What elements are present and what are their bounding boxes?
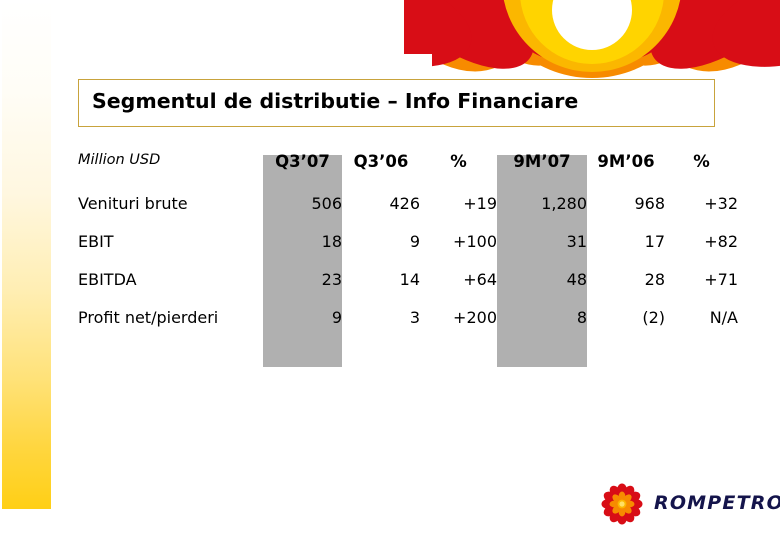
row-label: Venituri brute: [78, 194, 263, 232]
column-header-pct-ninemonth: %: [665, 152, 738, 194]
cell-pct-quarter: +100: [420, 232, 497, 270]
cell-pct-quarter: +64: [420, 270, 497, 308]
rompetrol-flower-mark-icon: [601, 483, 643, 525]
cell-9m-2007: 8: [497, 308, 587, 346]
cell-q3-2007: 23: [263, 270, 342, 308]
cell-q3-2006: 3: [342, 308, 420, 346]
rompetrol-wordmark: ROMPETROL: [654, 492, 780, 514]
page-title: Segmentul de distributie – Info Financia…: [92, 89, 578, 113]
rompetrol-sun-graphic: [404, 0, 780, 78]
table-row: EBITDA 23 14 +64 48 28 +71: [78, 270, 738, 308]
cell-q3-2007: 18: [263, 232, 342, 270]
cell-9m-2006: 17: [587, 232, 665, 270]
cell-pct-ninemonth: +82: [665, 232, 738, 270]
cell-9m-2007: 31: [497, 232, 587, 270]
table-row: Profit net/pierderi 9 3 +200 8 (2) N/A: [78, 308, 738, 346]
cell-9m-2006: (2): [587, 308, 665, 346]
cell-q3-2006: 426: [342, 194, 420, 232]
unit-label: Million USD: [78, 152, 263, 194]
column-header-q3-2006: Q3’06: [342, 152, 420, 194]
column-header-q3-2007: Q3’07: [263, 152, 342, 194]
title-box: Segmentul de distributie – Info Financia…: [78, 79, 715, 127]
cell-q3-2007: 9: [263, 308, 342, 346]
cell-pct-ninemonth: +32: [665, 194, 738, 232]
rompetrol-logo: ROMPETROL: [601, 481, 771, 527]
cell-q3-2006: 14: [342, 270, 420, 308]
column-header-9m-2007: 9M’07: [497, 152, 587, 194]
financials-table: Million USD Q3’07 Q3’06 % 9M’07 9M’06 % …: [78, 152, 738, 346]
table-row: EBIT 18 9 +100 31 17 +82: [78, 232, 738, 270]
slide-canvas: Segmentul de distributie – Info Financia…: [0, 0, 780, 540]
cell-9m-2006: 968: [587, 194, 665, 232]
cell-pct-ninemonth: +71: [665, 270, 738, 308]
row-label: EBITDA: [78, 270, 263, 308]
cell-q3-2006: 9: [342, 232, 420, 270]
table-row: Venituri brute 506 426 +19 1,280 968 +32: [78, 194, 738, 232]
table-header-row: Million USD Q3’07 Q3’06 % 9M’07 9M’06 %: [78, 152, 738, 194]
column-header-9m-2006: 9M’06: [587, 152, 665, 194]
row-label: EBIT: [78, 232, 263, 270]
cell-pct-ninemonth: N/A: [665, 308, 738, 346]
cell-pct-quarter: +200: [420, 308, 497, 346]
column-header-pct-quarter: %: [420, 152, 497, 194]
cell-9m-2007: 1,280: [497, 194, 587, 232]
cell-q3-2007: 506: [263, 194, 342, 232]
left-gradient-strip: [2, 0, 51, 509]
row-label: Profit net/pierderi: [78, 308, 263, 346]
cell-9m-2007: 48: [497, 270, 587, 308]
cell-pct-quarter: +19: [420, 194, 497, 232]
cell-9m-2006: 28: [587, 270, 665, 308]
